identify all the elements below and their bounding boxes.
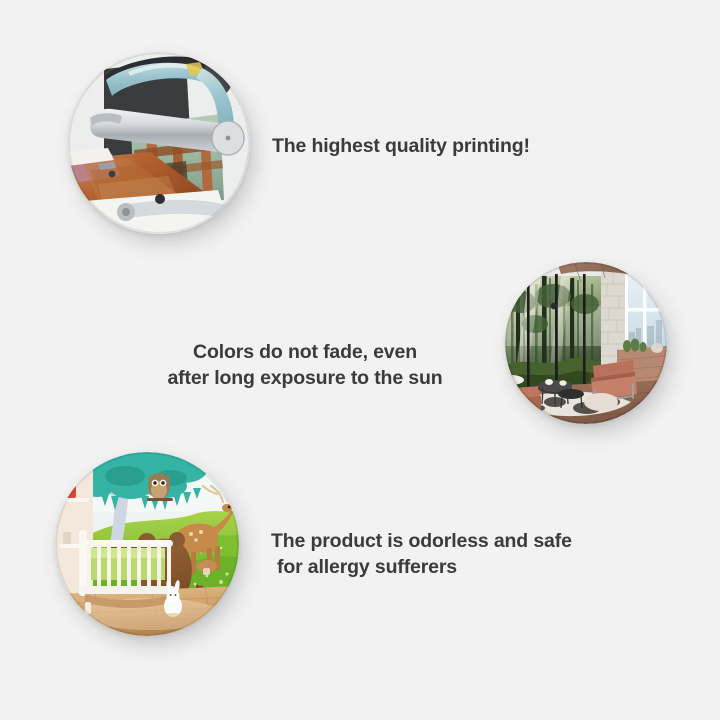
feature-text-odorless-and-safe: The product is odorless and safe for all…	[271, 528, 572, 580]
feature-text-colors-do-not-fade: Colors do not fade, even after long expo…	[155, 339, 455, 391]
feature-collage-page: The highest quality printing!	[0, 0, 720, 720]
feature-text-printing-quality: The highest quality printing!	[272, 133, 530, 159]
feature-line: after long exposure to the sun	[155, 365, 455, 391]
printing-press-image	[68, 52, 250, 234]
loft-living-room-illustration	[505, 262, 667, 424]
feature-line: The product is odorless and safe	[271, 528, 572, 554]
nursery-mural-illustration	[55, 452, 239, 636]
feature-line: for allergy sufferers	[271, 554, 572, 580]
loft-living-room-image	[505, 262, 667, 424]
crib	[79, 530, 175, 614]
feature-line: Colors do not fade, even	[155, 339, 455, 365]
feature-line: The highest quality printing!	[272, 133, 530, 159]
nursery-mural-image	[55, 452, 239, 636]
printing-press-illustration	[68, 52, 250, 234]
